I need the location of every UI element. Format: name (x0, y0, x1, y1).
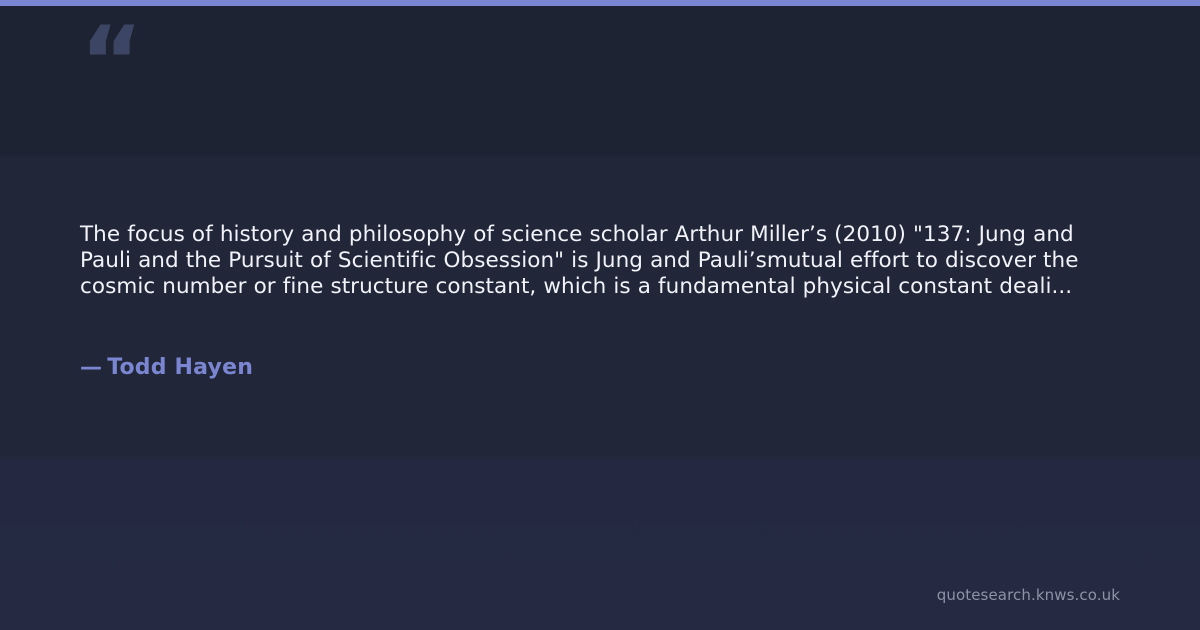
quote-text: The focus of history and philosophy of s… (80, 222, 1124, 299)
attribution-dash: — (80, 355, 102, 380)
quote-card: “ The focus of history and philosophy of… (0, 0, 1200, 630)
top-accent-bar (0, 0, 1200, 6)
attribution-author: Todd Hayen (107, 355, 253, 380)
quotation-mark-icon: “ (80, 14, 141, 110)
site-watermark: quotesearch.knws.co.uk (937, 586, 1120, 604)
quote-attribution: —Todd Hayen (80, 353, 253, 383)
